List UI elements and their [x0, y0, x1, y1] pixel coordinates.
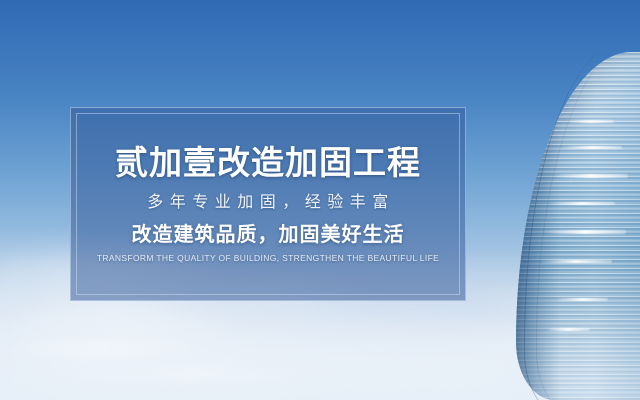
- banner-image: 贰加壹改造加固工程 多年专业加固，经验丰富 改造建筑品质，加固美好生活 TRAN…: [0, 0, 640, 400]
- subtitle-secondary: 改造建筑品质，加固美好生活: [132, 225, 405, 245]
- headline-panel: 贰加壹改造加固工程 多年专业加固，经验丰富 改造建筑品质，加固美好生活 TRAN…: [70, 107, 466, 301]
- subtitle-primary: 多年专业加固，经验丰富: [141, 195, 395, 211]
- window-glint: [556, 298, 608, 301]
- panel-content: 贰加壹改造加固工程 多年专业加固，经验丰富 改造建筑品质，加固美好生活 TRAN…: [71, 108, 465, 300]
- cloud-wisp: [0, 340, 200, 358]
- window-glint: [546, 328, 590, 331]
- window-glint: [540, 260, 612, 263]
- skyscraper-building: [516, 52, 640, 400]
- building-edge-seam: [536, 52, 640, 400]
- window-glint: [544, 230, 626, 234]
- window-glint: [554, 174, 628, 178]
- subtitle-english: TRANSFORM THE QUALITY OF BUILDING, STREN…: [97, 254, 439, 263]
- window-glint: [562, 146, 622, 149]
- window-glint: [549, 202, 615, 205]
- cloud-wisp: [60, 368, 320, 382]
- page-title: 贰加壹改造加固工程: [115, 146, 421, 179]
- window-glint: [568, 120, 614, 123]
